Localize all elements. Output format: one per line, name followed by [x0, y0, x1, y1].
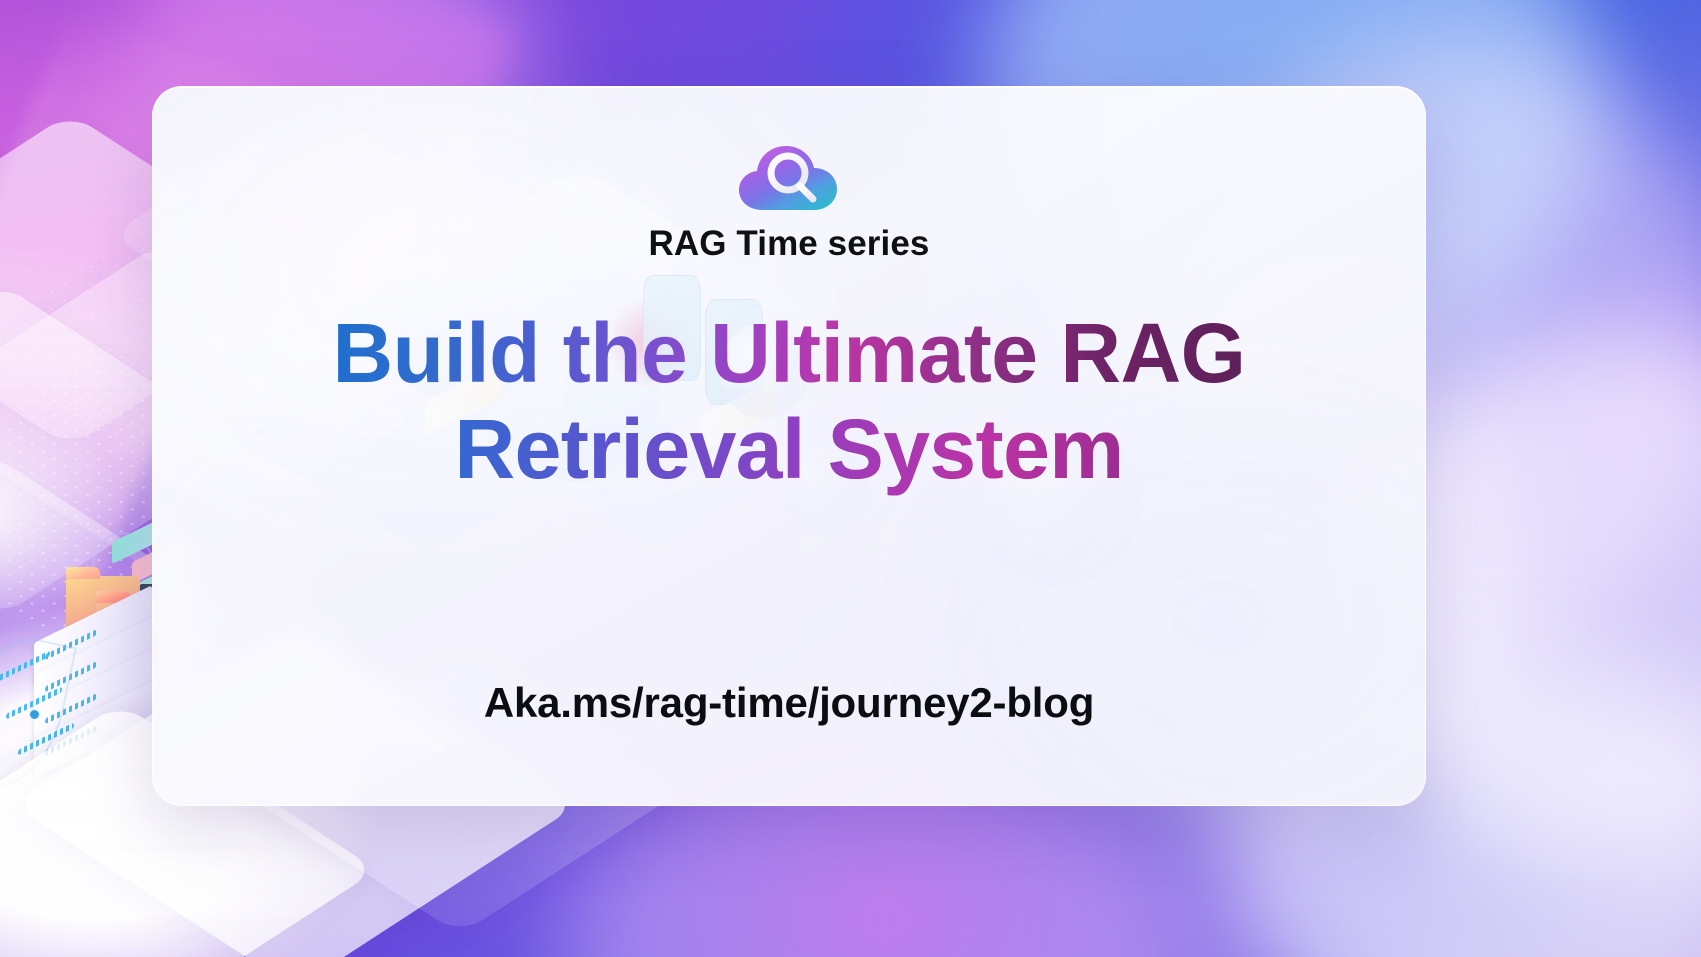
title-line-1: Build the Ultimate RAG [332, 306, 1245, 400]
cloud-search-icon [737, 142, 841, 214]
presentation-slide: RAG Time series Build the Ultimate RAG R… [0, 0, 1701, 957]
blog-link[interactable]: Aka.ms/rag-time/journey2-blog [484, 679, 1094, 727]
title-line-2: Retrieval System [332, 402, 1245, 498]
content-card: RAG Time series Build the Ultimate RAG R… [152, 86, 1426, 806]
eyebrow-label: RAG Time series [649, 224, 930, 264]
page-title: Build the Ultimate RAG Retrieval System [332, 306, 1245, 498]
